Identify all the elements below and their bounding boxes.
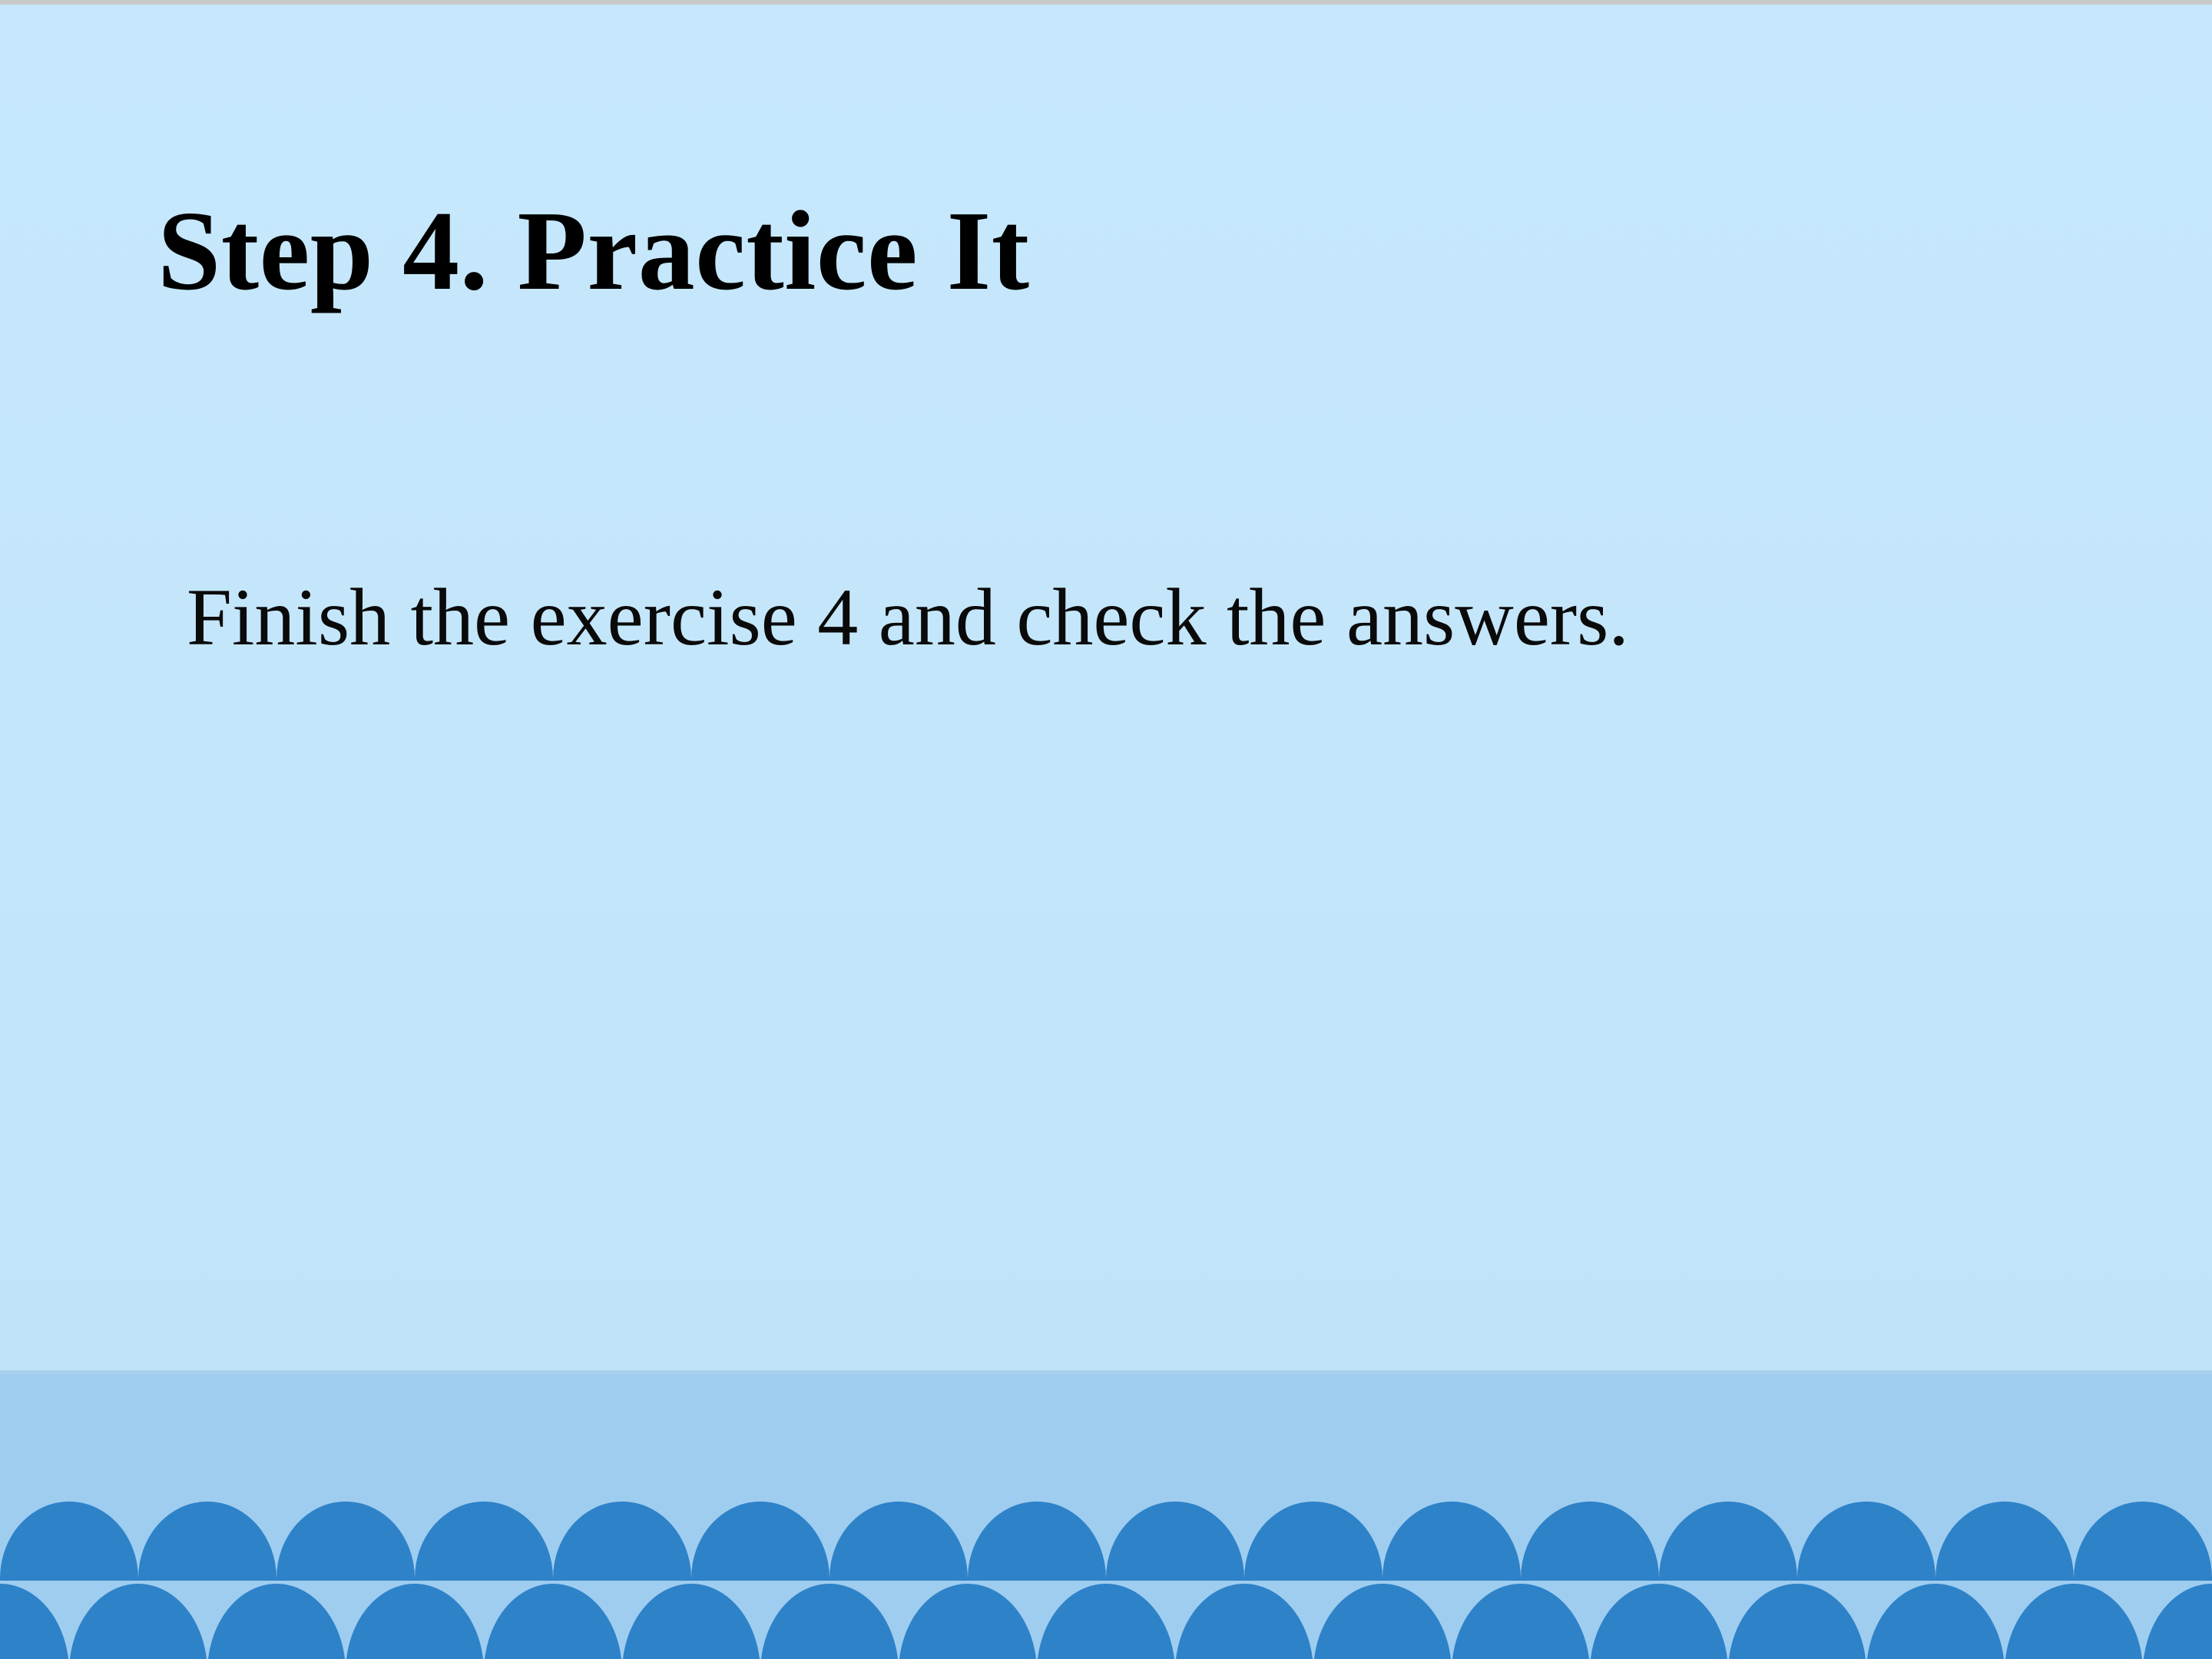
scallop-dome [1313,1584,1452,1659]
scallop-dome [1866,1584,2005,1659]
scallop-dome [829,1502,968,1581]
footer-decoration-band [0,1374,2212,1659]
scallop-dome [0,1584,69,1659]
scallop-dome [1106,1502,1244,1581]
scallop-dome [207,1584,346,1659]
scallop-dome [1521,1502,1659,1581]
scallop-dome [484,1584,622,1659]
scallop-dome [1590,1584,1728,1659]
scallop-dome [1797,1502,1936,1581]
scallop-dome [1037,1584,1175,1659]
scallop-dome [2074,1502,2212,1581]
scallop-dome [0,1502,138,1581]
scallop-dome [346,1584,484,1659]
scallop-dome [69,1584,207,1659]
scallop-dome [138,1502,276,1581]
scallop-dome [1244,1502,1382,1581]
scallop-dome [2143,1584,2212,1659]
scallop-dome [2005,1584,2143,1659]
scallop-dome [1936,1502,2074,1581]
scallop-dome [1382,1502,1521,1581]
scallop-row-front [0,1584,2212,1659]
scallop-dome [622,1584,760,1659]
slide-canvas: Step 4. Practice It Finish the exercise … [0,5,2212,1372]
scallop-dome [1659,1502,1797,1581]
scallop-dome [968,1502,1106,1581]
scallop-dome [691,1502,829,1581]
slide-body-text: Finish the exercise 4 and check the answ… [187,568,1629,666]
scallop-dome [553,1502,691,1581]
scallop-dome [1175,1584,1313,1659]
scallop-dome [760,1584,899,1659]
slide-title: Step 4. Practice It [157,189,1030,314]
scallop-dome [1452,1584,1590,1659]
presentation-slide: Step 4. Practice It Finish the exercise … [0,0,2212,1659]
scallop-dome [899,1584,1037,1659]
scallop-dome [415,1502,553,1581]
scallop-dome [1728,1584,1866,1659]
scallop-dome [276,1502,415,1581]
